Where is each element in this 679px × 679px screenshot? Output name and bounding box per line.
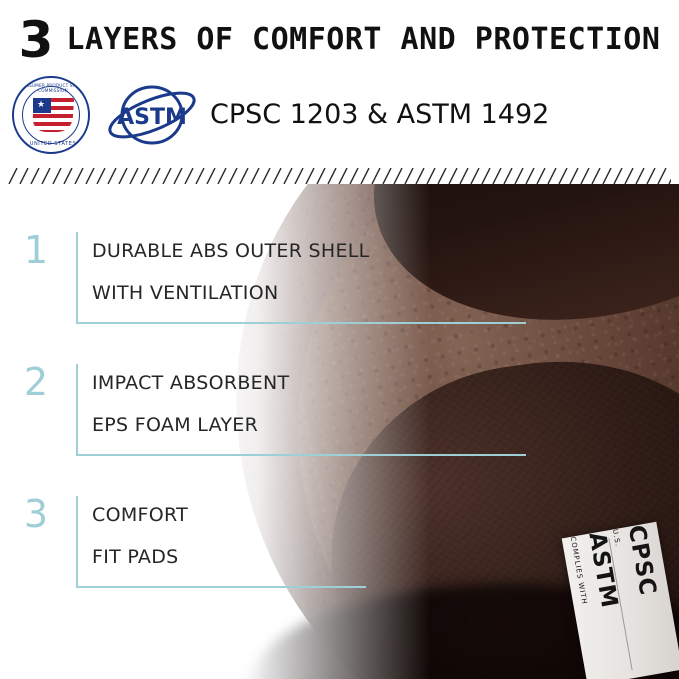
callout-3-leader-line bbox=[76, 586, 366, 588]
callout-1-number: 1 bbox=[14, 230, 58, 270]
seal-top-text: CONSUMER PRODUCT SAFETY COMMISSION bbox=[14, 83, 90, 93]
callout-2-vertical-rule bbox=[76, 364, 78, 456]
hatch-divider bbox=[8, 168, 671, 184]
callout-2-number: 2 bbox=[14, 362, 58, 402]
callout-2-line-1: IMPACT ABSORBENT bbox=[92, 362, 289, 404]
certification-row: CONSUMER PRODUCT SAFETY COMMISSION ★ UNI… bbox=[0, 76, 679, 154]
astm-logo-icon: ASTM bbox=[104, 80, 200, 150]
callout-3-line-2: FIT PADS bbox=[92, 536, 188, 578]
callout-1-vertical-rule bbox=[76, 232, 78, 324]
cpsc-seal-icon: CONSUMER PRODUCT SAFETY COMMISSION ★ UNI… bbox=[12, 76, 90, 154]
product-infographic: 3 LAYERS OF COMFORT AND PROTECTION CONSU… bbox=[0, 0, 679, 679]
helmet-photo: COMPLIES WITH ASTM U.S. CPSC 1 DURABLE A… bbox=[0, 184, 679, 679]
callout-1-lines: DURABLE ABS OUTER SHELL WITH VENTILATION bbox=[92, 230, 370, 314]
title-row: 3 LAYERS OF COMFORT AND PROTECTION bbox=[0, 10, 679, 70]
callout-1-leader-line bbox=[76, 322, 526, 324]
seal-bottom-text: UNITED STATES bbox=[14, 141, 90, 147]
callout-3-number: 3 bbox=[14, 494, 58, 534]
flag-star-icon: ★ bbox=[37, 100, 45, 109]
header: 3 LAYERS OF COMFORT AND PROTECTION CONSU… bbox=[0, 0, 679, 172]
title-number: 3 bbox=[19, 15, 53, 65]
callout-2-line-2: EPS FOAM LAYER bbox=[92, 404, 289, 446]
svg-text:ASTM: ASTM bbox=[117, 105, 187, 130]
callout-3-lines: COMFORT FIT PADS bbox=[92, 494, 188, 578]
callout-1-line-1: DURABLE ABS OUTER SHELL bbox=[92, 230, 370, 272]
certification-text: CPSC 1203 & ASTM 1492 bbox=[210, 100, 549, 130]
callout-2-lines: IMPACT ABSORBENT EPS FOAM LAYER bbox=[92, 362, 289, 446]
callout-1-line-2: WITH VENTILATION bbox=[92, 272, 370, 314]
page-title: LAYERS OF COMFORT AND PROTECTION bbox=[66, 24, 660, 56]
callout-2-leader-line bbox=[76, 454, 526, 456]
callout-3-vertical-rule bbox=[76, 496, 78, 588]
callout-3-line-1: COMFORT bbox=[92, 494, 188, 536]
